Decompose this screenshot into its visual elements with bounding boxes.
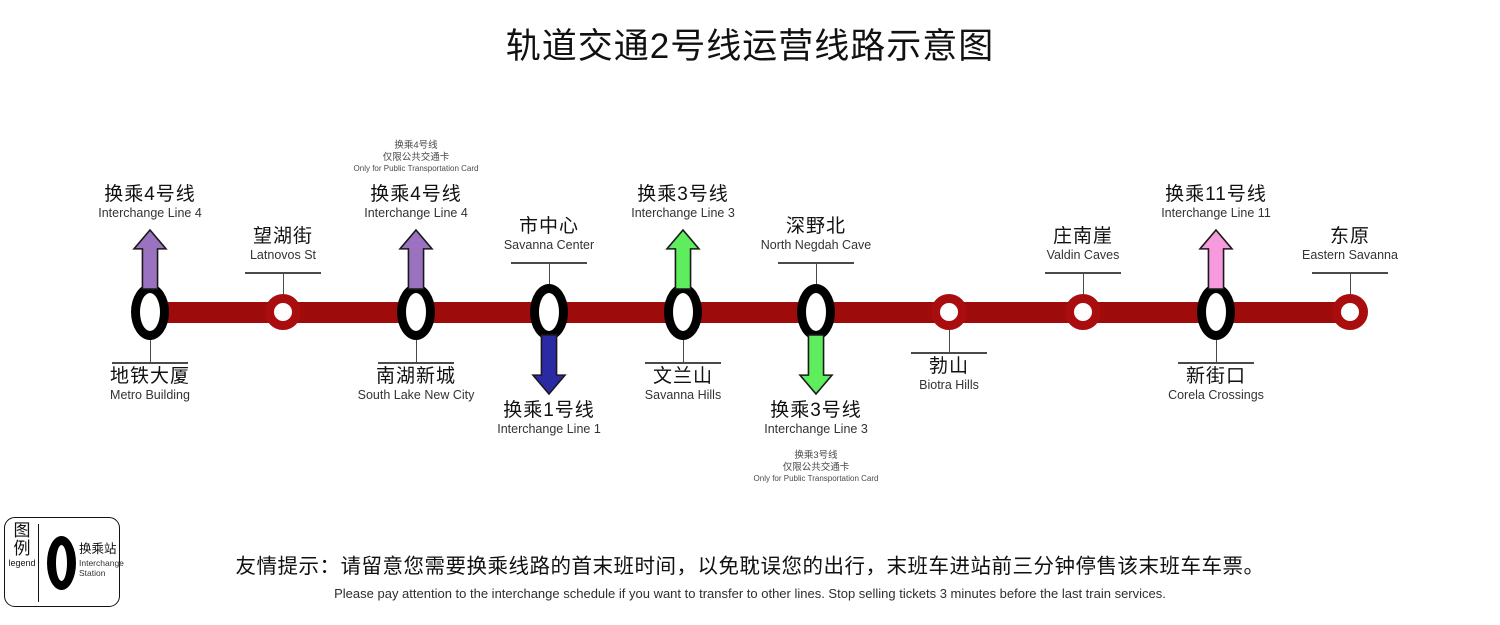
card-only-note-cn-2: 仅限公共交通卡 <box>266 152 566 164</box>
station-label-en: Metro Building <box>40 388 260 402</box>
station-label-cn: 地铁大厦 <box>40 366 260 387</box>
interchange-arrow-3号线[interactable] <box>665 228 701 290</box>
station-label-cn: 新街口 <box>1106 366 1326 387</box>
station-leader-line <box>816 262 818 284</box>
station-leader-rule <box>1045 272 1121 274</box>
legend-item-en-1: Interchange <box>79 558 124 569</box>
station-leader-line <box>150 340 152 362</box>
station-label: 深野北North Negdah Cave <box>706 216 926 252</box>
interchange-station-marker[interactable] <box>397 284 435 340</box>
station-label-cn: 深野北 <box>706 216 926 237</box>
station-marker[interactable] <box>1332 294 1368 330</box>
station-marker[interactable] <box>1065 294 1101 330</box>
interchange-station-marker[interactable] <box>131 284 169 340</box>
interchange-label-cn: 换乘3号线 <box>563 184 803 206</box>
interchange-arrow-11号线[interactable] <box>1198 228 1234 290</box>
station-leader-line <box>683 340 685 362</box>
station-label-cn: 望湖街 <box>173 226 393 247</box>
interchange-arrow-1号线[interactable] <box>531 334 567 396</box>
station-label-cn: 文兰山 <box>573 366 793 387</box>
station-leader-rule <box>112 362 188 364</box>
station-label-en: Eastern Savanna <box>1240 248 1460 262</box>
interchange-label-cn: 换乘4号线 <box>30 184 270 206</box>
interchange-label: 换乘3号线Interchange Line 3 <box>563 184 803 220</box>
interchange-label-cn: 换乘3号线 <box>696 400 936 422</box>
interchange-arrow-4号线[interactable] <box>132 228 168 290</box>
card-only-note-cn-1: 换乘4号线 <box>266 140 566 152</box>
interchange-station-marker[interactable] <box>1197 284 1235 340</box>
interchange-label-en: Interchange Line 4 <box>30 206 270 220</box>
interchange-label: 换乘3号线Interchange Line 3 <box>696 400 936 436</box>
station-label-en: Valdin Caves <box>973 248 1193 262</box>
interchange-label-en: Interchange Line 3 <box>696 422 936 436</box>
station-leader-rule <box>1312 272 1388 274</box>
interchange-arrow-4号线[interactable] <box>398 228 434 290</box>
station-label: 南湖新城South Lake New City <box>306 366 526 402</box>
station-leader-line <box>1350 272 1352 294</box>
interchange-label-en: Interchange Line 11 <box>1096 206 1336 220</box>
station-label: 东原Eastern Savanna <box>1240 226 1460 262</box>
station-leader-line <box>416 340 418 362</box>
line-track <box>150 302 1350 323</box>
station-leader-rule <box>378 362 454 364</box>
station-label: 市中心Savanna Center <box>439 216 659 252</box>
interchange-station-marker[interactable] <box>664 284 702 340</box>
card-only-note-en: Only for Public Transportation Card <box>266 164 566 174</box>
station-marker[interactable] <box>931 294 967 330</box>
station-label-en: North Negdah Cave <box>706 238 926 252</box>
station-leader-line <box>283 272 285 294</box>
station-leader-rule <box>1178 362 1254 364</box>
station-label: 勃山Biotra Hills <box>839 356 1059 392</box>
station-leader-rule <box>778 262 854 264</box>
station-leader-line <box>1216 340 1218 362</box>
station-label: 地铁大厦Metro Building <box>40 366 260 402</box>
interchange-label-cn: 换乘1号线 <box>429 400 669 422</box>
station-leader-line <box>1083 272 1085 294</box>
interchange-label: 换乘4号线Interchange Line 4 <box>296 184 536 220</box>
interchange-label: 换乘4号线Interchange Line 4 <box>30 184 270 220</box>
metro-line-diagram: 轨道交通2号线运营线路示意图 地铁大厦Metro Building换乘4号线In… <box>0 0 1500 625</box>
interchange-label-cn: 换乘11号线 <box>1096 184 1336 206</box>
station-label-en: Corela Crossings <box>1106 388 1326 402</box>
card-only-note: 换乘3号线仅限公共交通卡Only for Public Transportati… <box>666 450 966 484</box>
legend-item-cn: 换乘站 <box>79 542 124 558</box>
legend-title-en: legend <box>8 559 36 568</box>
station-label: 新街口Corela Crossings <box>1106 366 1326 402</box>
station-label: 文兰山Savanna Hills <box>573 366 793 402</box>
station-label-cn: 勃山 <box>839 356 1059 377</box>
station-leader-line <box>549 262 551 284</box>
card-only-note-cn-2: 仅限公共交通卡 <box>666 462 966 474</box>
station-leader-line <box>949 330 951 352</box>
legend-title: 图例 legend <box>8 522 36 568</box>
interchange-station-icon <box>47 536 76 590</box>
card-only-note-en: Only for Public Transportation Card <box>666 474 966 484</box>
station-marker[interactable] <box>265 294 301 330</box>
interchange-station-marker[interactable] <box>797 284 835 340</box>
station-label-en: Savanna Center <box>439 238 659 252</box>
page-title: 轨道交通2号线运营线路示意图 <box>0 18 1500 69</box>
notice-text-cn: 友情提示：请留意您需要换乘线路的首末班时间，以免耽误您的出行，末班车进站前三分钟… <box>150 549 1350 579</box>
interchange-arrow-3号线[interactable] <box>798 334 834 396</box>
station-label: 望湖街Latnovos St <box>173 226 393 262</box>
station-label-en: Biotra Hills <box>839 378 1059 392</box>
interchange-label: 换乘1号线Interchange Line 1 <box>429 400 669 436</box>
legend-divider <box>38 524 39 602</box>
footer-notice: 友情提示：请留意您需要换乘线路的首末班时间，以免耽误您的出行，末班车进站前三分钟… <box>150 549 1350 601</box>
legend-item-label: 换乘站 Interchange Station <box>79 542 124 579</box>
station-leader-rule <box>511 262 587 264</box>
legend-box: 图例 legend 换乘站 Interchange Station <box>4 517 120 607</box>
interchange-label-cn: 换乘4号线 <box>296 184 536 206</box>
interchange-label-en: Interchange Line 1 <box>429 422 669 436</box>
notice-text-en: Please pay attention to the interchange … <box>150 586 1350 601</box>
card-only-note-cn-1: 换乘3号线 <box>666 450 966 462</box>
legend-title-cn: 图例 <box>14 521 31 558</box>
interchange-label: 换乘11号线Interchange Line 11 <box>1096 184 1336 220</box>
station-label: 庄南崖Valdin Caves <box>973 226 1193 262</box>
station-leader-rule <box>245 272 321 274</box>
interchange-station-marker[interactable] <box>530 284 568 340</box>
legend-item-en-2: Station <box>79 568 124 579</box>
card-only-note: 换乘4号线仅限公共交通卡Only for Public Transportati… <box>266 140 566 174</box>
station-label-cn: 庄南崖 <box>973 226 1193 247</box>
station-label-cn: 南湖新城 <box>306 366 526 387</box>
station-leader-rule <box>645 362 721 364</box>
station-label-cn: 东原 <box>1240 226 1460 247</box>
station-leader-rule <box>911 352 987 354</box>
station-label-en: Latnovos St <box>173 248 393 262</box>
